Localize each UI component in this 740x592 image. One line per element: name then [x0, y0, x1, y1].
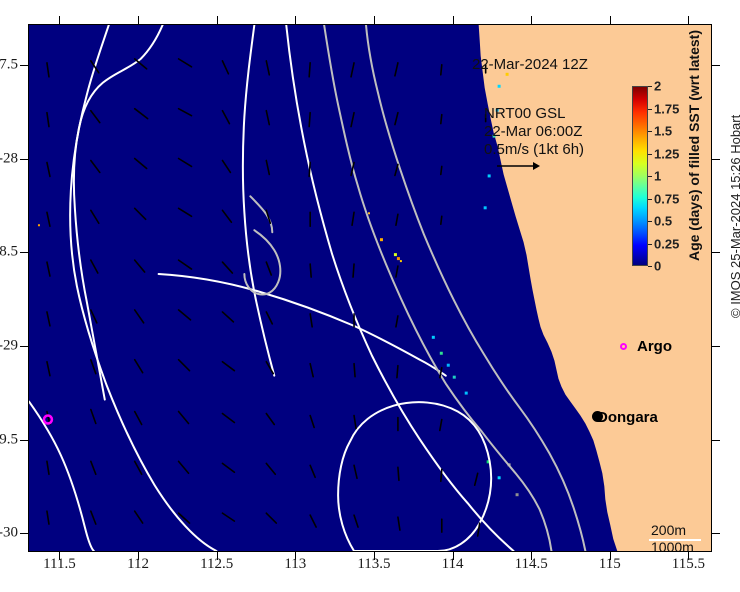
- vector-scale-label: 0.5m/s (1kt 6h): [484, 141, 584, 158]
- y-tick-label: -30: [0, 525, 18, 542]
- x-tick-label: 115: [599, 556, 621, 573]
- colorbar-tick-mark: [648, 176, 652, 177]
- x-tick-mark-top: [138, 16, 139, 24]
- y-tick-mark: [20, 65, 28, 66]
- colorbar-tick-label: 0.5: [654, 214, 672, 229]
- colorbar-tick-mark: [648, 154, 652, 155]
- x-tick-mark-top: [610, 16, 611, 24]
- colorbar-tick-mark: [648, 199, 652, 200]
- y-tick-mark: [20, 252, 28, 253]
- source-time-label: 22-Mar 06:00Z: [484, 123, 582, 140]
- y-tick-mark-right: [712, 440, 720, 441]
- vector-scale-arrow-icon: [495, 159, 541, 173]
- colorbar-tick-mark: [648, 86, 652, 87]
- colorbar-tick-mark: [648, 221, 652, 222]
- ocean-current-map-figure: 22-Mar-2024 12Z NRT00 GSL 22-Mar 06:00Z …: [0, 0, 740, 592]
- colorbar-tick-mark: [648, 131, 652, 132]
- colorbar-tick-mark: [648, 266, 652, 267]
- map-plot-area[interactable]: 22-Mar-2024 12Z NRT00 GSL 22-Mar 06:00Z …: [28, 24, 712, 552]
- y-tick-label: -28.5: [0, 244, 18, 261]
- y-tick-mark: [20, 440, 28, 441]
- y-tick-mark-right: [712, 346, 720, 347]
- y-tick-label: -27.5: [0, 57, 18, 74]
- colorbar-tick-mark: [648, 109, 652, 110]
- y-tick-mark-right: [712, 533, 720, 534]
- dongara-city-label: Dongara: [597, 409, 658, 426]
- colorbar-title: Age (days) of filled SST (wrt latest): [686, 30, 702, 261]
- y-tick-mark: [20, 346, 28, 347]
- colorbar-tick-label: 1.25: [654, 146, 679, 161]
- y-tick-label: -29: [0, 338, 18, 355]
- x-tick-label: 114.5: [515, 556, 548, 573]
- y-tick-mark: [20, 533, 28, 534]
- colorbar-tick-label: 0: [654, 259, 661, 274]
- x-tick-label: 114: [442, 556, 464, 573]
- x-tick-mark-top: [453, 16, 454, 24]
- x-tick-mark-top: [688, 16, 689, 24]
- x-tick-mark-top: [295, 16, 296, 24]
- source-model-label: NRT00 GSL: [484, 105, 565, 122]
- colorbar-tick-mark: [648, 244, 652, 245]
- colorbar-tick-label: 2: [654, 79, 661, 94]
- depth-200m-line-swatch: [649, 539, 701, 541]
- x-tick-label: 115.5: [672, 556, 705, 573]
- x-tick-label: 112.5: [200, 556, 233, 573]
- y-tick-label: -29.5: [0, 431, 18, 448]
- y-tick-label: -28: [0, 150, 18, 167]
- x-tick-mark-top: [531, 16, 532, 24]
- x-tick-label: 113.5: [357, 556, 390, 573]
- x-tick-label: 112: [127, 556, 149, 573]
- x-tick-mark-top: [217, 16, 218, 24]
- x-tick-label: 113: [284, 556, 306, 573]
- argo-legend-label: Argo: [637, 338, 672, 355]
- x-tick-label: 111.5: [43, 556, 76, 573]
- depth-200m-label: 200m: [651, 522, 686, 538]
- y-tick-mark-right: [712, 252, 720, 253]
- x-tick-mark-top: [59, 16, 60, 24]
- date-stamp: 22-Mar-2024 12Z: [472, 56, 588, 73]
- y-tick-mark-right: [712, 159, 720, 160]
- y-tick-mark-right: [712, 65, 720, 66]
- colorbar-tick-label: 1: [654, 169, 661, 184]
- colorbar-tick-label: 1.5: [654, 124, 672, 139]
- map-canvas: [29, 25, 711, 551]
- colorbar-gradient: [632, 86, 648, 266]
- colorbar[interactable]: 21.751.51.2510.750.50.250: [632, 86, 648, 266]
- colorbar-tick-label: 0.25: [654, 236, 679, 251]
- colorbar-tick-label: 0.75: [654, 191, 679, 206]
- y-tick-mark: [20, 159, 28, 160]
- colorbar-tick-label: 1.75: [654, 101, 679, 116]
- credit-label: © IMOS 25-Mar-2024 15:26 Hobart: [728, 115, 740, 318]
- argo-legend-marker-icon: [620, 343, 627, 350]
- x-tick-mark-top: [374, 16, 375, 24]
